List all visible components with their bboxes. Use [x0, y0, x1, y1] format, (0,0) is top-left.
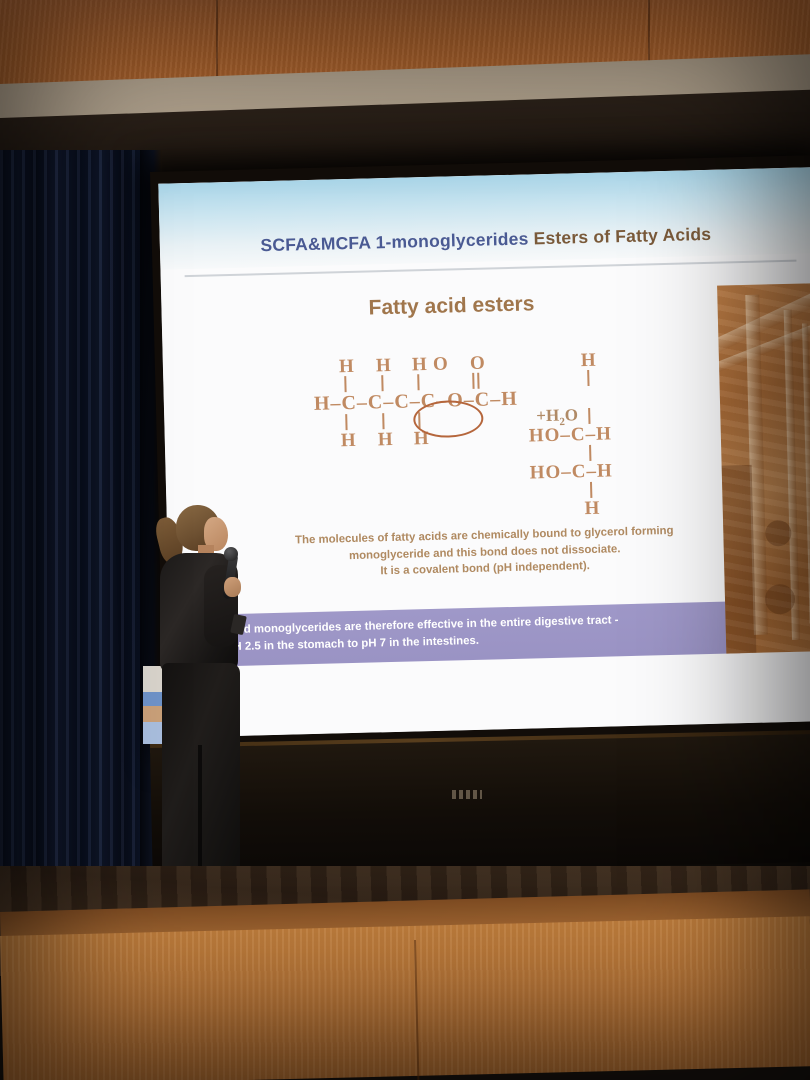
- bond-vertical: [589, 445, 591, 461]
- stage-front-panel: [0, 916, 810, 1080]
- photo-valve: [765, 520, 792, 547]
- bond-double: [477, 373, 479, 389]
- molecule-top-h-2: H: [376, 356, 392, 375]
- photo-pipe: [802, 323, 810, 623]
- bond-vertical: [382, 413, 384, 429]
- bond-vertical: [417, 374, 419, 390]
- molecule-main-chain: H–C–C–C–C–O–C–H: [314, 389, 518, 414]
- presenter-hand: [224, 577, 241, 597]
- microphone-head: [224, 547, 238, 561]
- molecule-top-h-1: H: [339, 357, 355, 376]
- photo-pipe: [745, 295, 768, 635]
- bond-vertical: [381, 375, 383, 391]
- presentation-photo-scene: SCFA&MCFA 1-monoglycerides Esters of Fat…: [0, 0, 810, 1080]
- stage-curtain: [0, 150, 152, 910]
- slide-body-text: The molecules of fatty acids are chemica…: [229, 521, 740, 583]
- water-prefix: +H: [536, 406, 559, 426]
- bond-vertical: [345, 414, 347, 430]
- photo-shadow: [722, 465, 757, 654]
- bond-vertical: [590, 482, 592, 498]
- molecule-glycerol-row-2: HO–C–H: [529, 461, 613, 482]
- bond-double: [472, 373, 474, 389]
- photo-beam: [717, 323, 810, 373]
- bond-vertical: [588, 408, 590, 424]
- ester-bond-highlight-ellipse: [413, 400, 484, 439]
- slide-title-brown: Esters of Fatty Acids: [528, 224, 711, 249]
- molecule-carbonyl-oxygen: O: [470, 354, 486, 373]
- photo-valve: [765, 584, 796, 615]
- slide-heading: Fatty acid esters: [201, 288, 701, 325]
- slide-photo-industrial-plant: [717, 283, 810, 653]
- water-byproduct-label: +H2O: [536, 405, 578, 428]
- wall-marking: [452, 790, 482, 799]
- bond-vertical: [587, 370, 589, 386]
- presenter-leg-split: [198, 745, 202, 875]
- molecule-bottom-h-1: H: [341, 431, 357, 450]
- molecule-glycerol-top-h: H: [581, 351, 597, 370]
- photo-beam: [717, 289, 810, 353]
- water-suffix: O: [564, 405, 578, 424]
- molecule-glycerol-bottom-h: H: [584, 499, 600, 518]
- bond-vertical: [344, 376, 346, 392]
- molecule-top-h-3: H: [412, 355, 428, 374]
- presenter-clicker: [230, 614, 247, 635]
- photo-pipe: [784, 310, 800, 640]
- molecule-bottom-h-2: H: [378, 430, 394, 449]
- presenter: [152, 495, 282, 915]
- molecule-top-o-hydroxyl: O: [433, 355, 449, 374]
